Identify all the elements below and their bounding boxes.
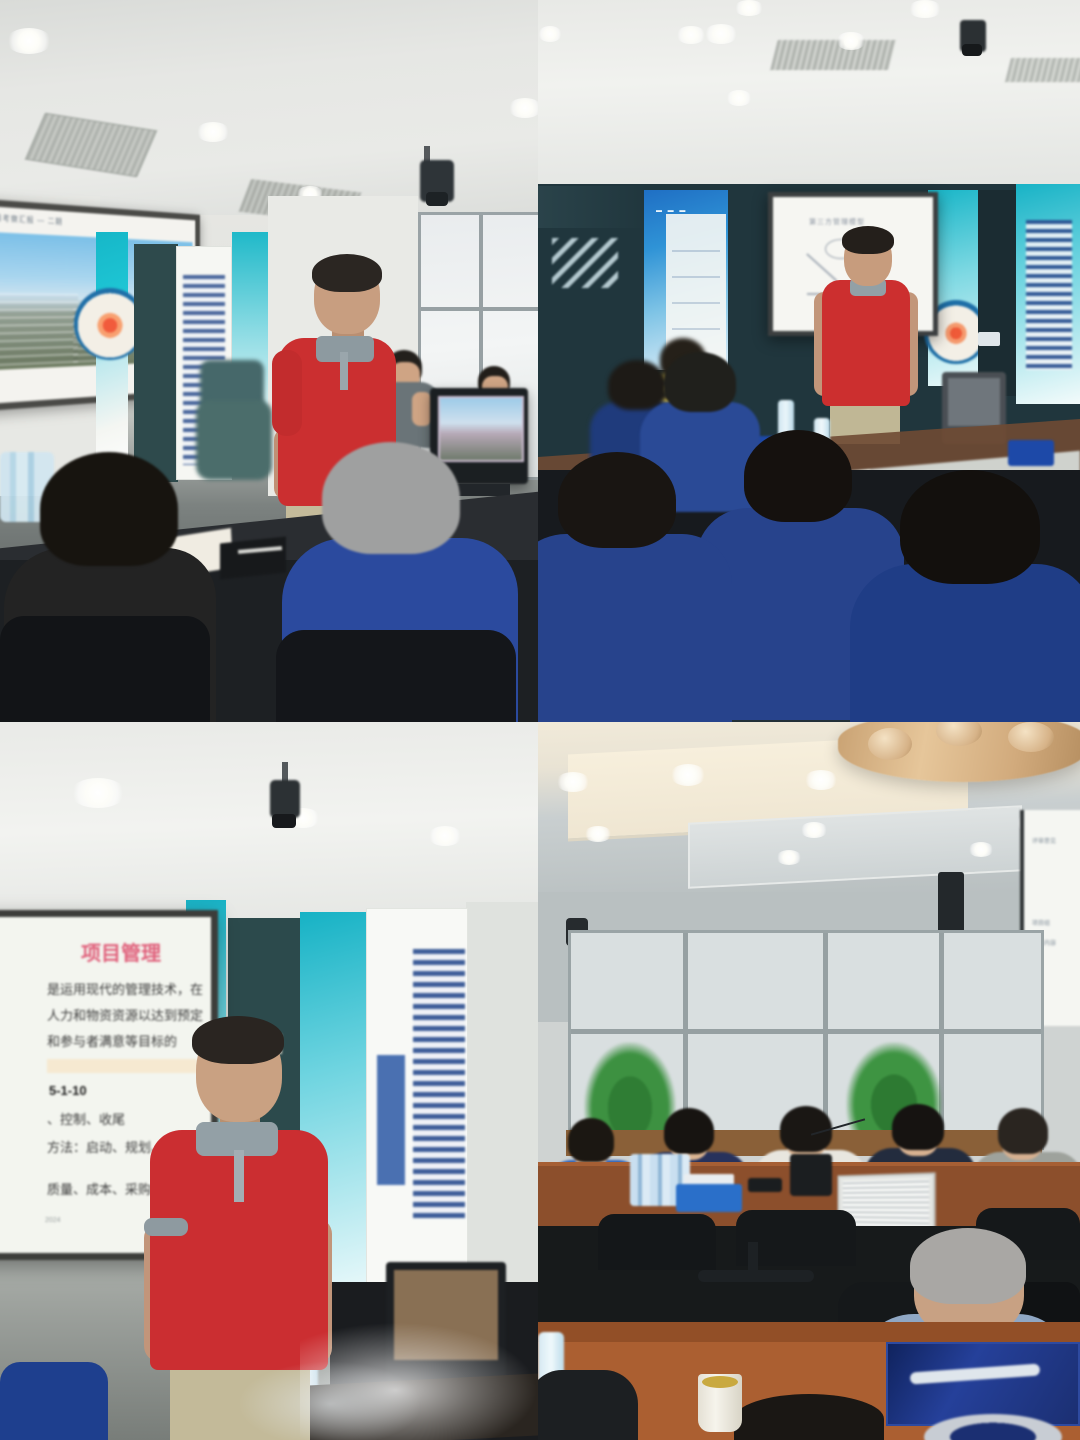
- slide-title: 第三方管理模型: [809, 217, 865, 227]
- air-vent-icon: [770, 40, 895, 70]
- banner-table-graphic: [413, 949, 465, 1219]
- wall-right: [466, 902, 538, 1302]
- downlight-icon: [800, 822, 828, 838]
- photo-top-left: 项目考察汇报 — 二期: [0, 0, 538, 722]
- building-render: [0, 293, 78, 366]
- downlight-icon: [704, 24, 738, 44]
- office-chair: [0, 616, 210, 722]
- chair-base: [698, 1270, 814, 1282]
- downlight-icon: [776, 850, 802, 865]
- presenter-hair: [842, 226, 894, 254]
- tea-surface: [702, 1376, 738, 1388]
- downlight-icon: [726, 90, 752, 106]
- steam-haze: [240, 1362, 420, 1440]
- slide-header: 项目考察汇报 — 二期: [0, 212, 63, 227]
- photo-collage: 项目考察汇报 — 二期: [0, 0, 1080, 1440]
- banner-table-graphic: [1026, 220, 1072, 370]
- wall-highlight: [538, 186, 648, 228]
- wall-light-reflection: [552, 238, 618, 288]
- attendee-row-front-left: [538, 452, 724, 720]
- downlight-icon: [908, 0, 942, 18]
- downlight-icon: [508, 98, 538, 118]
- foreground-man-hair: [910, 1228, 1026, 1304]
- photo-bottom-right: 评审意见 项目组 汇报内容: [538, 722, 1080, 1440]
- downlight-icon: [734, 0, 764, 16]
- presenter-hair: [192, 1016, 284, 1064]
- foreground-shoulder: [538, 1370, 638, 1440]
- office-chair: [276, 630, 516, 722]
- slide-title: 项目管理: [81, 937, 161, 966]
- slide-bullet: 5-1-10: [49, 1083, 87, 1098]
- doorway: [134, 244, 178, 482]
- downlight-icon: [6, 28, 52, 54]
- downlight-icon: [676, 26, 706, 44]
- monitor-screen: [948, 378, 1000, 426]
- slide-body-line: 是运用现代的管理技术，在: [47, 979, 203, 998]
- chandelier-shade-icon: [1008, 722, 1054, 752]
- downlight-icon: [556, 772, 590, 792]
- downlight-icon: [428, 826, 462, 846]
- presenter-cuff: [144, 1218, 188, 1236]
- ceiling-speaker: [938, 872, 964, 938]
- photo-top-right: ▬ ▬ ▬ 第三方管理模型: [538, 0, 1080, 722]
- banner-blue-block: [377, 1055, 405, 1185]
- folder: [220, 537, 286, 580]
- slide-line: 项目组: [1032, 918, 1050, 927]
- attendee-grey-hair: [322, 442, 460, 554]
- downlight-icon: [968, 842, 994, 857]
- presenter-sleeve: [272, 350, 302, 436]
- downlight-icon: [584, 826, 612, 842]
- laptop-screen: [843, 1179, 929, 1229]
- projector-lens-icon: [426, 192, 448, 206]
- downlight-icon: [670, 764, 706, 786]
- downlight-icon: [804, 770, 838, 790]
- attendee-dark-hair: [40, 452, 178, 566]
- window-mullion: [571, 1029, 1041, 1034]
- attendee-row-front-right: [856, 470, 1080, 720]
- foreground-head: [734, 1394, 884, 1440]
- panelist-hair: [664, 1108, 714, 1154]
- ceiling-projector-icon: [270, 780, 300, 818]
- window-mullion: [421, 307, 538, 311]
- office-chair: [598, 1214, 716, 1270]
- tissue-box: [1008, 440, 1054, 466]
- attendee-body: [538, 534, 732, 722]
- panelist-hair: [998, 1108, 1048, 1154]
- attendee-hair: [664, 352, 736, 412]
- downlight-icon: [538, 26, 562, 42]
- desk-microphone: [790, 1154, 832, 1196]
- panelist-hair: [568, 1118, 614, 1162]
- downlight-icon: [836, 32, 866, 50]
- projector-lens-icon: [272, 814, 296, 828]
- presenter-hair: [312, 254, 382, 292]
- attendee-body: [850, 564, 1080, 722]
- projector-lens-icon: [962, 44, 982, 56]
- presenter-red-polo: [822, 280, 910, 406]
- desk-microphone-base: [748, 1178, 782, 1192]
- light-switch: [978, 332, 1000, 346]
- presenter-placket: [234, 1150, 244, 1202]
- tissue-box: [676, 1184, 742, 1212]
- presenter-placket: [340, 352, 348, 390]
- slide-footer: 2024: [45, 1217, 61, 1224]
- downlight-icon: [196, 122, 230, 142]
- attendee-hair: [900, 470, 1040, 584]
- slide-bullet: 、控制、收尾: [47, 1109, 125, 1128]
- air-vent-icon: [1005, 58, 1080, 82]
- downlight-icon: [70, 778, 126, 808]
- ceiling: [538, 0, 1080, 196]
- doorway: [978, 190, 1018, 396]
- attendee-hair: [558, 452, 676, 548]
- attendee-hair: [744, 430, 852, 522]
- blue-chair: [0, 1362, 108, 1440]
- chandelier-shade-icon: [868, 728, 912, 760]
- roll-up-banner: [366, 908, 468, 1290]
- slide-line: 评审意见: [1032, 836, 1056, 845]
- photo-bottom-left: 项目管理 是运用现代的管理技术，在 人力和物资资源以达到预定 和参与者满意等目标…: [0, 722, 538, 1440]
- roll-up-banner-right: [1016, 184, 1080, 404]
- panelist-hair: [892, 1104, 944, 1150]
